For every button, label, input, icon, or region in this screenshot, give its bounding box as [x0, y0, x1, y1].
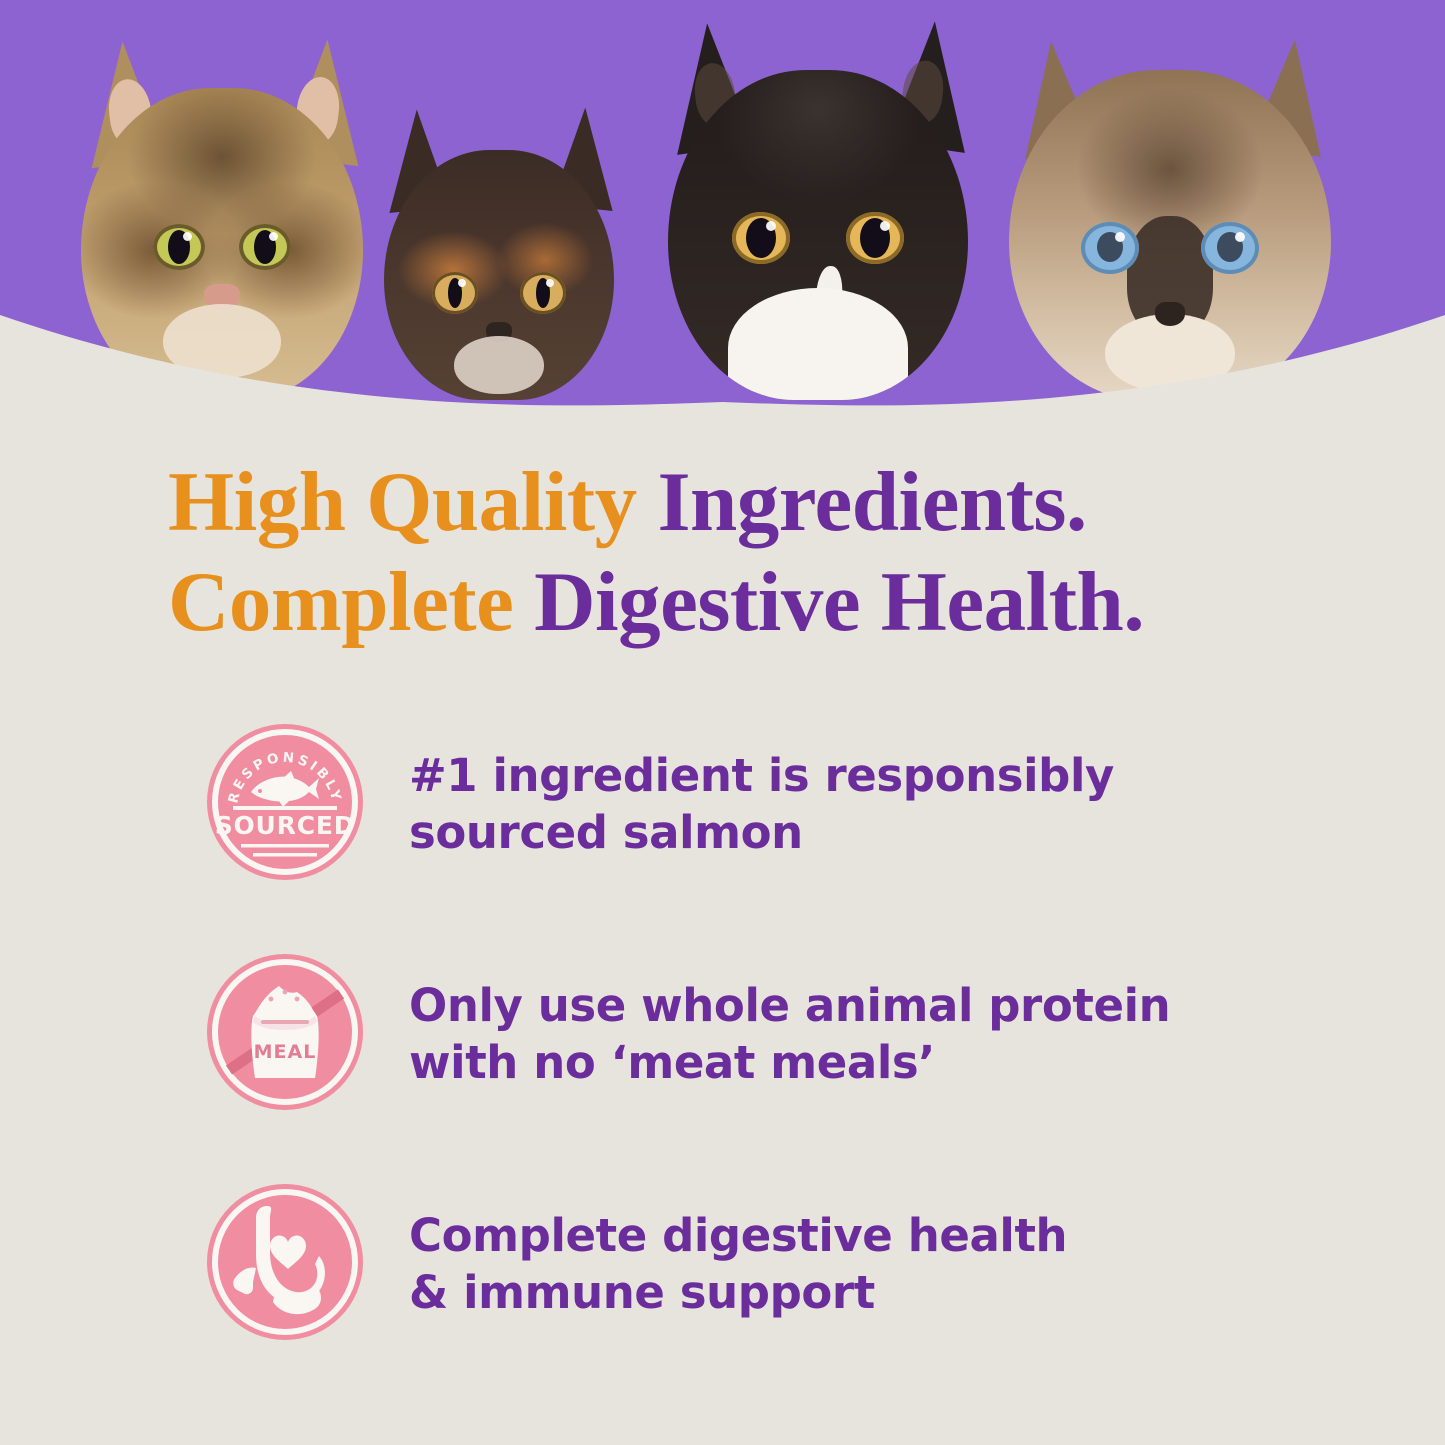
feature-line-1: #1 ingredient is responsibly: [409, 748, 1114, 805]
no-meat-meal-bag-icon: MEAL: [205, 952, 365, 1112]
stomach-heart-digestive-health-icon: [205, 1182, 365, 1342]
headline-line-1-orange: High Quality: [168, 455, 657, 549]
cat-eye-right: [846, 212, 904, 264]
cat-eye-glint: [269, 232, 278, 241]
feature-line-2: sourced salmon: [409, 805, 1114, 862]
feature-item-digestive-health: Complete digestive health & immune suppo…: [205, 1182, 1325, 1412]
headline-line-1-purple: Ingredients.: [657, 455, 1086, 549]
badge-main-text: SOURCED: [215, 811, 356, 840]
feature-line-2: with no ‘meat meals’: [409, 1035, 1170, 1092]
cat-eye-left: [732, 212, 790, 264]
cat-eye-glint: [183, 232, 192, 241]
feature-text-no-meat-meals: Only use whole animal protein with no ‘m…: [409, 952, 1170, 1091]
feature-item-no-meat-meals: MEAL Only use whole animal protein with …: [205, 952, 1325, 1182]
cat-eye-right: [1201, 222, 1259, 274]
headline-line-2: Complete Digestive Health.: [168, 552, 1348, 652]
feature-line-1: Complete digestive health: [409, 1208, 1067, 1265]
cat-eye-glint: [1235, 232, 1245, 242]
cat-eye-right: [239, 224, 291, 270]
feature-line-2: & immune support: [409, 1265, 1067, 1322]
cat-eye-glint: [880, 221, 890, 231]
cat-eye-glint: [766, 221, 776, 231]
cat-eye-left: [1081, 222, 1139, 274]
headline-line-2-purple: Digestive Health.: [534, 555, 1144, 649]
curved-divider: [0, 290, 1445, 430]
feature-text-responsibly-sourced: #1 ingredient is responsibly sourced sal…: [409, 722, 1114, 861]
responsibly-sourced-fish-badge-icon: RESPONSIBLY SOURCED: [205, 722, 365, 882]
feature-list: RESPONSIBLY SOURCED: [205, 722, 1325, 1412]
page-title: High Quality Ingredients. Complete Diges…: [168, 452, 1348, 653]
feature-item-responsibly-sourced: RESPONSIBLY SOURCED: [205, 722, 1325, 952]
feature-text-digestive-health: Complete digestive health & immune suppo…: [409, 1182, 1067, 1321]
headline-line-1: High Quality Ingredients.: [168, 452, 1348, 552]
product-feature-panel: High Quality Ingredients. Complete Diges…: [0, 0, 1445, 1445]
cat-eye-glint: [458, 279, 466, 287]
cat-eye-glint: [546, 279, 554, 287]
cat-eye-left: [153, 224, 205, 270]
badge-bag-label: MEAL: [254, 1041, 317, 1063]
headline-line-2-orange: Complete: [168, 555, 534, 649]
cat-eye-glint: [1115, 232, 1125, 242]
feature-line-1: Only use whole animal protein: [409, 978, 1170, 1035]
